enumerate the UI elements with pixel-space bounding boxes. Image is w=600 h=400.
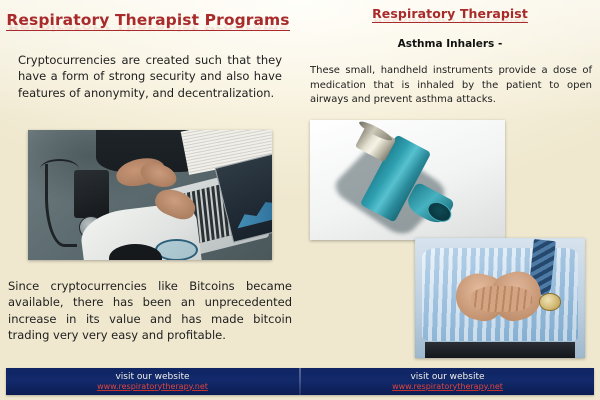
footer-bar: visit our website www.respiratorytherapy… [6,368,594,395]
left-title-block: Respiratory Therapist Programs Respirato… [0,10,296,50]
stethoscope-tube-shape [45,164,77,248]
inhaler-photo-inner [310,120,505,240]
desk-photo-inner [28,130,272,260]
laptop-screen-chart-shape [231,192,272,229]
brochure-page: Respiratory Therapist Programs Respirato… [0,0,600,400]
footer-left-website-link[interactable]: www.respiratorytherapy.net [97,383,208,391]
footer-left-label: visit our website [115,373,189,382]
right-panel-title: Respiratory Therapist [372,6,528,23]
abdominal-pain-photo [415,238,585,358]
left-panel: Respiratory Therapist Programs Respirato… [0,0,296,400]
interlocked-fingers-shape [471,286,532,312]
wristwatch-shape [539,293,561,311]
asthma-inhaler-photo [310,120,505,240]
right-paragraph-top: These small, handheld instruments provid… [310,64,592,108]
footer-right-website-link[interactable]: www.respiratorytherapy.net [392,383,503,391]
footer-right-label: visit our website [410,373,484,382]
desk-phone-shape [74,170,108,218]
right-title-block: Respiratory Therapist Respiratory Therap… [300,3,600,39]
footer-left-half: visit our website www.respiratorytherapy… [6,368,299,395]
right-subheading: Asthma Inhalers - [300,38,600,50]
trousers-waist-shape [425,342,575,358]
left-paragraph-bottom: Since cryptocurrencies like Bitcoins bec… [8,278,292,343]
desk-laptop-photo [28,130,272,260]
footer-right-half: visit our website www.respiratorytherapy… [301,368,594,395]
left-paragraph-top: Cryptocurrencies are created such that t… [18,52,282,101]
left-panel-title: Respiratory Therapist Programs [6,11,289,31]
pain-photo-inner [415,238,585,358]
